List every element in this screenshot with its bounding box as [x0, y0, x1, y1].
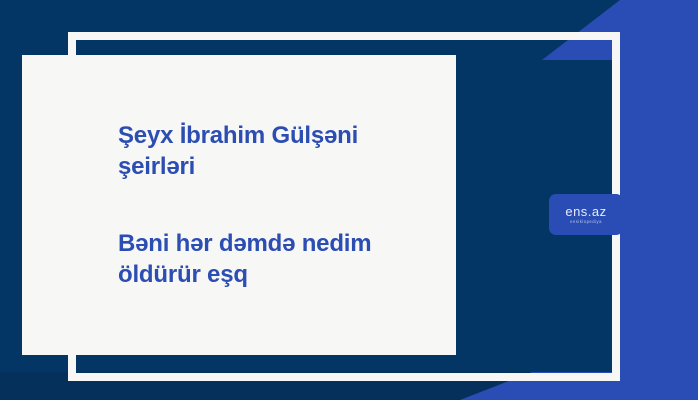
content-card-text-block: Şeyx İbrahim Gülşəni şeirləri Bəni hər d…: [22, 55, 456, 355]
background-blue-right-panel: [620, 0, 698, 400]
headline-secondary: Bəni hər dəmdə nedim öldürür eşq: [118, 228, 418, 290]
headline-primary: Şeyx İbrahim Gülşəni şeirləri: [118, 120, 418, 182]
brand-tagline: ensiklopediya: [570, 220, 602, 224]
brand-wordmark: ens.az: [565, 205, 606, 218]
slide-canvas: Şeyx İbrahim Gülşəni şeirləri Bəni hər d…: [0, 0, 698, 400]
content-card: Şeyx İbrahim Gülşəni şeirləri Bəni hər d…: [22, 55, 456, 355]
brand-logo-badge[interactable]: ens.az ensiklopediya: [549, 194, 623, 235]
